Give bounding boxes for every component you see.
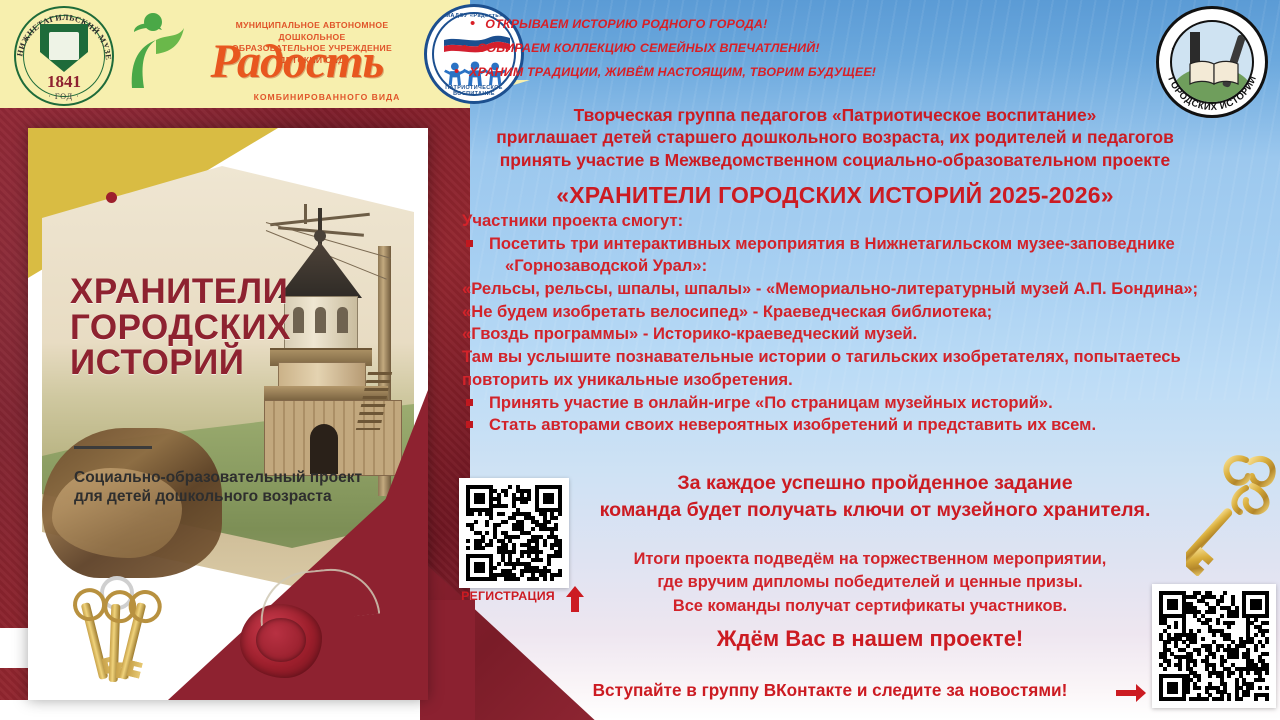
body-bullet-3: Стать авторами своих невероятных изобрет… [462,414,1252,436]
slogan-row: • ХРАНИМ ТРАДИЦИИ, ЖИВЁМ НАСТОЯЩИМ, ТВОР… [462,64,1162,79]
museum-year: 1841 [14,72,114,92]
closing-block: Итоги проекта подведём на торжественном … [520,548,1220,618]
invitation-block: Творческая группа педагогов «Патриотичес… [440,104,1230,171]
wax-seal-icon [240,604,322,678]
cover-title-line1: ХРАНИТЕЛИ [70,274,290,310]
bullet-dot-icon: • [454,64,459,79]
body-paragraph-1: Там вы услышите познавательные истории о… [462,346,1252,368]
poster-root: НИЖНЕТАГИЛЬСКИЙ МУЗЕЙ-ЗАПОВЕДНИК 1841 · … [0,0,1280,720]
slogan-text: ХРАНИМ ТРАДИЦИИ, ЖИВЁМ НАСТОЯЩИМ, ТВОРИМ… [469,65,876,79]
venue-1: «Рельсы, рельсы, шпалы, шпалы» - «Мемори… [462,278,1252,300]
vk-invitation-text: Вступайте в группу ВКонтакте и следите з… [500,680,1160,701]
project-cover-card: ХРАНИТЕЛИ ГОРОДСКИХ ИСТОРИЙ Социально-об… [28,128,428,700]
radost-type-label: КОМБИНИРОВАННОГО ВИДА [242,92,412,102]
venue-3: «Гвоздь программы» - Историко-краеведчес… [462,323,1252,345]
body-bullet-1: Посетить три интерактивных мероприятия в… [462,233,1252,255]
highlight-block: За каждое успешно пройденное задание ком… [520,470,1230,525]
cover-subtitle-line2: для детей дошкольного возраста [74,487,374,506]
cover-subtitle: Социально-образовательный проект для дет… [74,468,374,507]
registration-qr-label: РЕГИСТРАЦИЯ [455,589,561,603]
cover-divider [74,446,152,449]
body-heading: Участники проекта смогут: [462,210,1252,232]
venue-2: «Не будем изобретать велосипед» - Краеве… [462,301,1252,323]
registration-qr-code[interactable] [459,478,569,588]
museum-year-label: · ГОД · [14,92,114,101]
body-bullet-1-text: Посетить три интерактивных мероприятия в… [489,233,1252,255]
closing-line3: Все команды получат сертификаты участник… [520,595,1220,618]
bullet-dot-icon: • [470,16,475,31]
museum-logo: НИЖНЕТАГИЛЬСКИЙ МУЗЕЙ-ЗАПОВЕДНИК 1841 · … [14,6,114,106]
header-slogan-list: • ОТКРЫВАЕМ ИСТОРИЮ РОДНОГО ГОРОДА! • СО… [462,16,1162,88]
body-bullet-2-text: Принять участие в онлайн-игре «По страни… [489,392,1252,414]
closing-line2: где вручим дипломы победителей и ценные … [520,571,1220,594]
closing-call-to-action: Ждём Вас в нашем проекте! [520,626,1220,652]
slogan-row: • ОТКРЫВАЕМ ИСТОРИЮ РОДНОГО ГОРОДА! [462,16,1162,31]
bullet-dot-icon: • [462,40,467,55]
body-paragraph-1-cont: повторить их уникальные изобретения. [462,369,1252,391]
invitation-line3: принять участие в Межведомственном социа… [440,149,1230,171]
cover-title: ХРАНИТЕЛИ ГОРОДСКИХ ИСТОРИЙ [70,274,290,381]
radost-wordmark: Радость [182,38,412,86]
slogan-text: СОБИРАЕМ КОЛЛЕКЦИЮ СЕМЕЙНЫХ ВПЕЧАТЛЕНИЙ! [477,41,819,55]
square-bullet-icon [466,240,473,247]
arrow-up-icon [566,586,584,612]
arrow-right-icon [1116,684,1146,702]
white-bottom-strip [0,700,420,720]
highlight-line2: команда будет получать ключи от музейног… [520,497,1230,524]
slogan-row: • СОБИРАЕМ КОЛЛЕКЦИЮ СЕМЕЙНЫХ ВПЕЧАТЛЕНИ… [462,40,1162,55]
closing-line1: Итоги проекта подведём на торжественном … [520,548,1220,571]
body-bullet-3-text: Стать авторами своих невероятных изобрет… [489,414,1252,436]
highlight-line1: За каждое успешно пройденное задание [520,470,1230,497]
project-title: «ХРАНИТЕЛИ ГОРОДСКИХ ИСТОРИЙ 2025-2026» [440,182,1230,209]
body-content: Участники проекта смогут: Посетить три и… [462,210,1252,436]
cover-title-line2: ГОРОДСКИХ [70,310,290,346]
square-bullet-icon [466,421,473,428]
slogan-text: ОТКРЫВАЕМ ИСТОРИЮ РОДНОГО ГОРОДА! [485,17,767,31]
square-bullet-icon [466,399,473,406]
cover-title-line3: ИСТОРИЙ [70,345,290,381]
body-bullet-1-cont: «Горнозаводской Урал»: [505,255,1252,277]
keepers-emblem: ХРАНИТЕЛИ ГОРОДСКИХ ИСТОРИЙ [1156,6,1268,118]
body-bullet-2: Принять участие в онлайн-игре «По страни… [462,392,1252,414]
golden-key-icon [1186,446,1278,576]
invitation-line1: Творческая группа педагогов «Патриотичес… [440,104,1230,126]
open-book-icon [1188,60,1240,86]
vk-group-qr-code[interactable] [1152,584,1276,708]
invitation-line2: приглашает детей старшего дошкольного во… [440,126,1230,148]
cover-subtitle-line1: Социально-образовательный проект [74,468,374,487]
keys-bunch-icon [66,576,176,688]
radost-logo: МУНИЦИПАЛЬНОЕ АВТОНОМНОЕ ДОШКОЛЬНОЕ ОБРА… [122,8,412,104]
